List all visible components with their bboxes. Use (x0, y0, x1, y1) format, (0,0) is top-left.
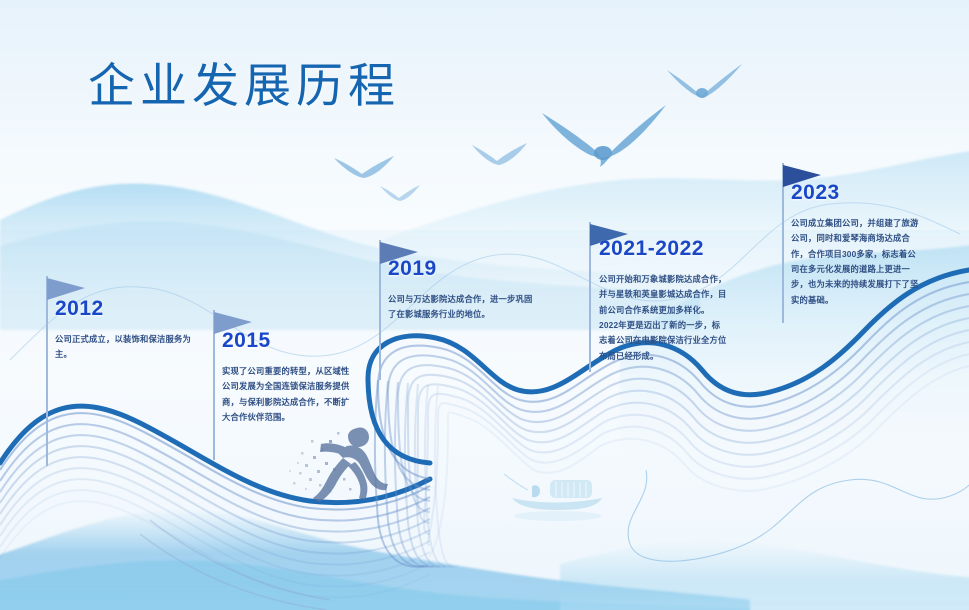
milestone-year: 2023 (791, 182, 919, 203)
milestone-year: 2021-2022 (599, 238, 727, 259)
milestone-2021-2022: 2021-2022 公司开始和万象城影院达成合作，并与星轶和英皇影城达成合作，目… (599, 238, 727, 364)
ribbon-left-lines (0, 406, 430, 597)
milestone-description: 公司成立集团公司，并组建了旅游公司，同时和爱琴海商场达成合作，合作项目300多家… (791, 216, 919, 308)
milestone-2015: 2015 实现了公司重要的转型，从区域性公司发展为全国连锁保洁服务提供商，与保利… (222, 330, 350, 425)
milestone-year: 2019 (388, 258, 538, 279)
milestone-2023: 2023 公司成立集团公司，并组建了旅游公司，同时和爱琴海商场达成合作，合作项目… (791, 182, 919, 308)
ribbon-bottom-tail (140, 520, 330, 610)
page-title: 企业发展历程 (88, 62, 400, 109)
milestone-year: 2015 (222, 330, 350, 351)
milestone-description: 实现了公司重要的转型，从区域性公司发展为全国连锁保洁服务提供商，与保利影院达成合… (222, 364, 350, 425)
ribbon-middle-lines (368, 336, 770, 556)
milestone-description: 公司与万达影院达成合作，进一步巩固了在影城服务行业的地位。 (388, 292, 538, 323)
milestone-description: 公司开始和万象城影院达成合作，并与星轶和英皇影城达成合作，目前公司合作系统更加多… (599, 272, 727, 364)
poster-canvas: 企业发展历程 2012 公司正式成立，以装饰和保洁服务为主。 2015 实现了公… (0, 0, 969, 610)
milestone-description: 公司正式成立，以装饰和保洁服务为主。 (55, 332, 195, 363)
milestone-2019: 2019 公司与万达影院达成合作，进一步巩固了在影城服务行业的地位。 (388, 258, 538, 323)
milestone-2012: 2012 公司正式成立，以装饰和保洁服务为主。 (55, 298, 195, 363)
milestone-year: 2012 (55, 298, 195, 319)
